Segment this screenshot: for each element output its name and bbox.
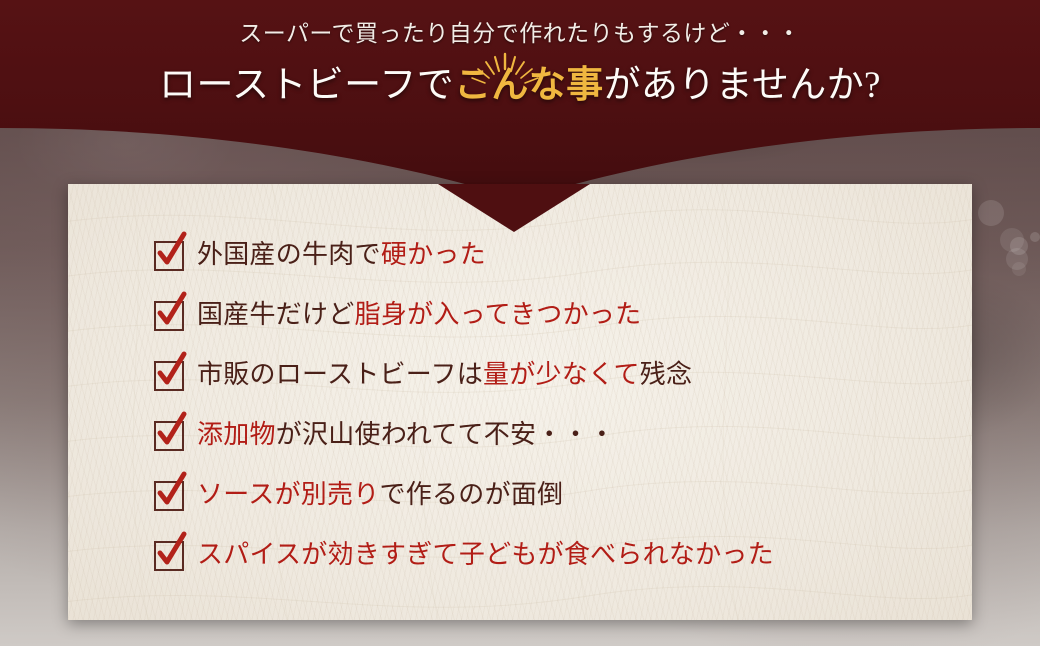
headline-part2: がありませんか? (604, 65, 881, 106)
list-item: 国産牛だけど脂身が入ってきつかった (154, 292, 972, 337)
checkbox-checked-icon[interactable] (154, 361, 184, 391)
item-segment: スパイスが効きすぎて子どもが食べられなかった (197, 542, 774, 568)
check-mark-icon (153, 351, 187, 391)
list-item: 市販のローストビーフは量が少なくて残念 (154, 352, 972, 397)
checkbox-checked-icon[interactable] (154, 421, 184, 451)
item-segment: 外国産の牛肉で (197, 242, 381, 268)
bokeh-circle (1030, 232, 1040, 242)
list-item: 外国産の牛肉で硬かった (154, 232, 972, 277)
item-segment: が沢山使われてて不安・・・ (276, 422, 615, 448)
check-mark-icon (153, 291, 187, 331)
checklist-card: 外国産の牛肉で硬かった 国産牛だけど脂身が入ってきつかった 市販のローストビーフ… (68, 184, 972, 620)
item-segment: 添加物 (197, 422, 276, 448)
item-segment: 国産牛だけど (197, 302, 355, 328)
item-segment: 脂身が入ってきつかった (355, 302, 642, 328)
header-subtitle: スーパーで買ったり自分で作れたりもするけど・・・ (239, 14, 800, 48)
list-item: スパイスが効きすぎて子どもが食べられなかった (154, 532, 972, 577)
checkbox-checked-icon[interactable] (154, 301, 184, 331)
check-mark-icon (153, 411, 187, 451)
bokeh-circle (978, 200, 1004, 226)
checkbox-checked-icon[interactable] (154, 541, 184, 571)
headline-part1: ローストビーフで (159, 65, 454, 106)
sparkle-burst-icon (462, 52, 548, 88)
item-segment: 量が少なくて (483, 362, 640, 388)
list-item: 添加物が沢山使われてて不安・・・ (154, 412, 972, 457)
check-mark-icon (153, 231, 187, 271)
bokeh-circle (1012, 262, 1026, 276)
item-segment: 残念 (640, 362, 693, 388)
item-segment: ソースが別売り (197, 482, 380, 508)
card-notch-triangle (438, 184, 590, 232)
header-band: スーパーで買ったり自分で作れたりもするけど・・・ ローストビーフでこんな事があり… (0, 0, 1040, 200)
item-segment: で作るのが面倒 (380, 482, 564, 508)
list-item: ソースが別売りで作るのが面倒 (154, 472, 972, 517)
checkbox-checked-icon[interactable] (154, 481, 184, 511)
checklist: 外国産の牛肉で硬かった 国産牛だけど脂身が入ってきつかった 市販のローストビーフ… (68, 184, 972, 620)
item-segment: 硬かった (381, 242, 486, 268)
check-mark-icon (153, 531, 187, 571)
item-segment: 市販のローストビーフは (197, 362, 483, 388)
checkbox-checked-icon[interactable] (154, 241, 184, 271)
check-mark-icon (153, 471, 187, 511)
promo-banner: スーパーで買ったり自分で作れたりもするけど・・・ ローストビーフでこんな事があり… (0, 0, 1040, 646)
